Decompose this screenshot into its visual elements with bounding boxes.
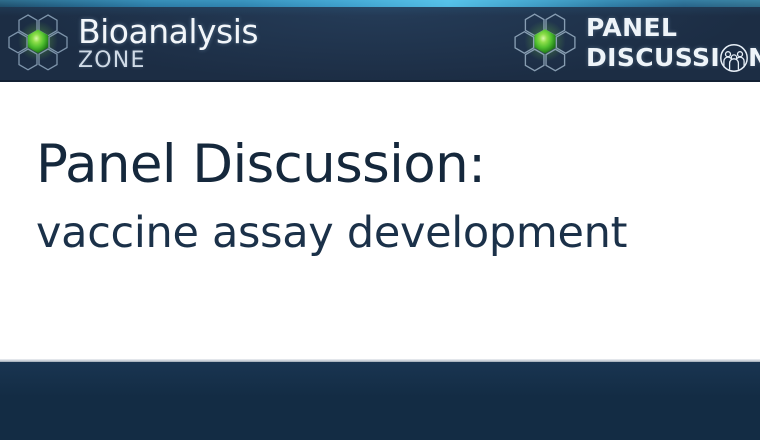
- bioanalysis-zone-logo[interactable]: Bioanalysis ZONE: [6, 9, 258, 78]
- bioanalysis-wordmark: Bioanalysis ZONE: [78, 15, 258, 72]
- main-content-area: Panel Discussion: vaccine assay developm…: [0, 82, 760, 362]
- people-group-icon: [719, 43, 749, 73]
- slide-canvas: Bioanalysis ZONE: [0, 0, 760, 440]
- footer-sheen: [0, 362, 760, 440]
- top-accent-glow: [0, 0, 760, 7]
- panel-label-line1: PANEL: [586, 15, 760, 40]
- panel-discussion-wordmark: PANEL DISCUSSI: [586, 15, 760, 73]
- page-subtitle: vaccine assay development: [36, 212, 627, 255]
- hexagon-cluster-icon: [6, 9, 70, 78]
- hexagon-cluster-icon: [512, 8, 578, 79]
- brand-subtitle: ZONE: [78, 50, 258, 72]
- header-bar: Bioanalysis ZONE: [0, 0, 760, 82]
- brand-name: Bioanalysis: [78, 15, 258, 48]
- panel-label-prefix: DISCUSSI: [586, 45, 720, 70]
- page-title: Panel Discussion:: [36, 138, 485, 191]
- panel-discussion-badge[interactable]: PANEL DISCUSSI: [512, 8, 760, 79]
- panel-label-line2: DISCUSSI: [586, 43, 760, 73]
- panel-label-suffix: N: [748, 45, 760, 70]
- footer-band: [0, 362, 760, 440]
